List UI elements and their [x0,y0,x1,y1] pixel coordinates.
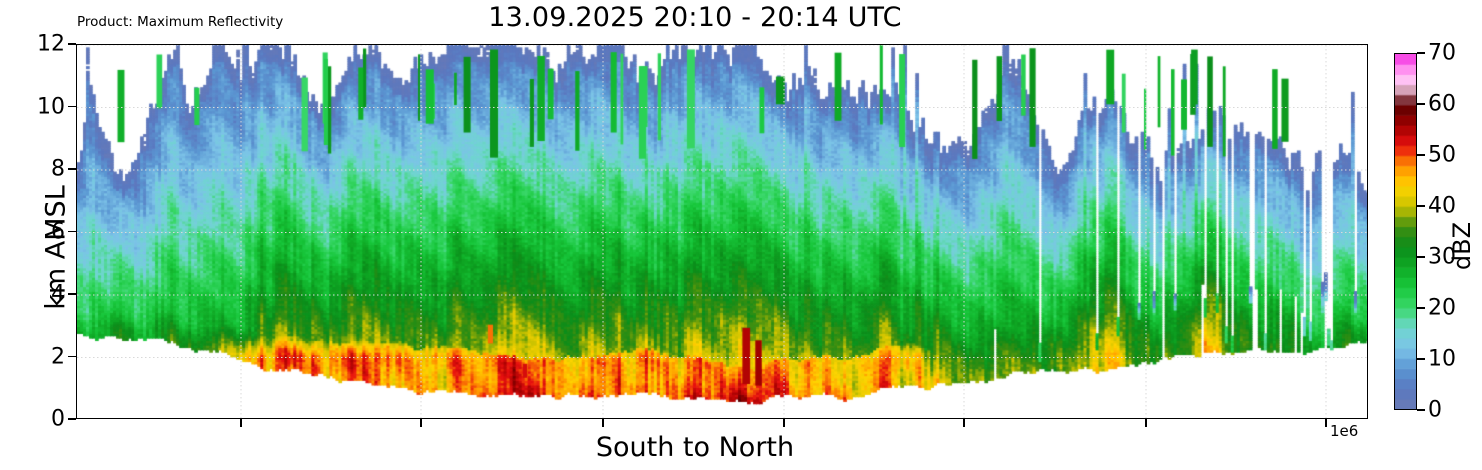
x-axis-offset-text: 1e6 [1330,422,1358,440]
y-tick-label: 12 [37,32,65,57]
colorbar-tick-label: 0 [1428,398,1442,423]
colorbar-tick-label: 30 [1428,245,1456,270]
colorbar-tick-mark [1417,358,1425,360]
colorbar-tick-label: 10 [1428,347,1456,372]
x-tick-mark [240,419,242,427]
y-tick-label: 10 [37,94,65,119]
reflectivity-heatmap [77,45,1368,419]
y-tick-mark [68,43,76,45]
colorbar-tick-mark [1417,103,1425,105]
colorbar-tick-label: 50 [1428,143,1456,168]
colorbar-tick-label: 20 [1428,296,1456,321]
x-tick-mark [783,419,785,427]
y-tick-label: 0 [51,407,65,432]
y-tick-mark [68,168,76,170]
colorbar-tick-mark [1417,256,1425,258]
colorbar-tick-label: 70 [1428,41,1456,66]
product-annotation: Product: Maximum Reflectivity [77,14,283,30]
y-tick-mark [68,231,76,233]
colorbar-tick-mark [1417,409,1425,411]
colorbar-tick-label: 40 [1428,194,1456,219]
colorbar-tick-label: 60 [1428,92,1456,117]
x-axis-label: South to North [0,432,1390,463]
x-tick-mark [1325,419,1327,427]
colorbar-tick-mark [1417,205,1425,207]
x-tick-mark [420,419,422,427]
x-tick-mark [1145,419,1147,427]
colorbar-tick-mark [1417,154,1425,156]
y-tick-label: 4 [51,282,65,307]
colorbar [1394,53,1417,410]
y-tick-label: 6 [51,219,65,244]
y-tick-mark [68,418,76,420]
colorbar-gradient [1394,53,1417,410]
colorbar-tick-mark [1417,307,1425,309]
colorbar-tick-mark [1417,52,1425,54]
y-tick-mark [68,293,76,295]
plot-area [76,44,1368,419]
y-tick-label: 8 [51,157,65,182]
radar-cross-section-figure: 13.09.2025 20:10 - 20:14 UTC Product: Ma… [0,0,1482,470]
y-tick-mark [68,106,76,108]
y-tick-mark [68,356,76,358]
x-tick-mark [963,419,965,427]
y-tick-label: 2 [51,344,65,369]
x-tick-mark [602,419,604,427]
